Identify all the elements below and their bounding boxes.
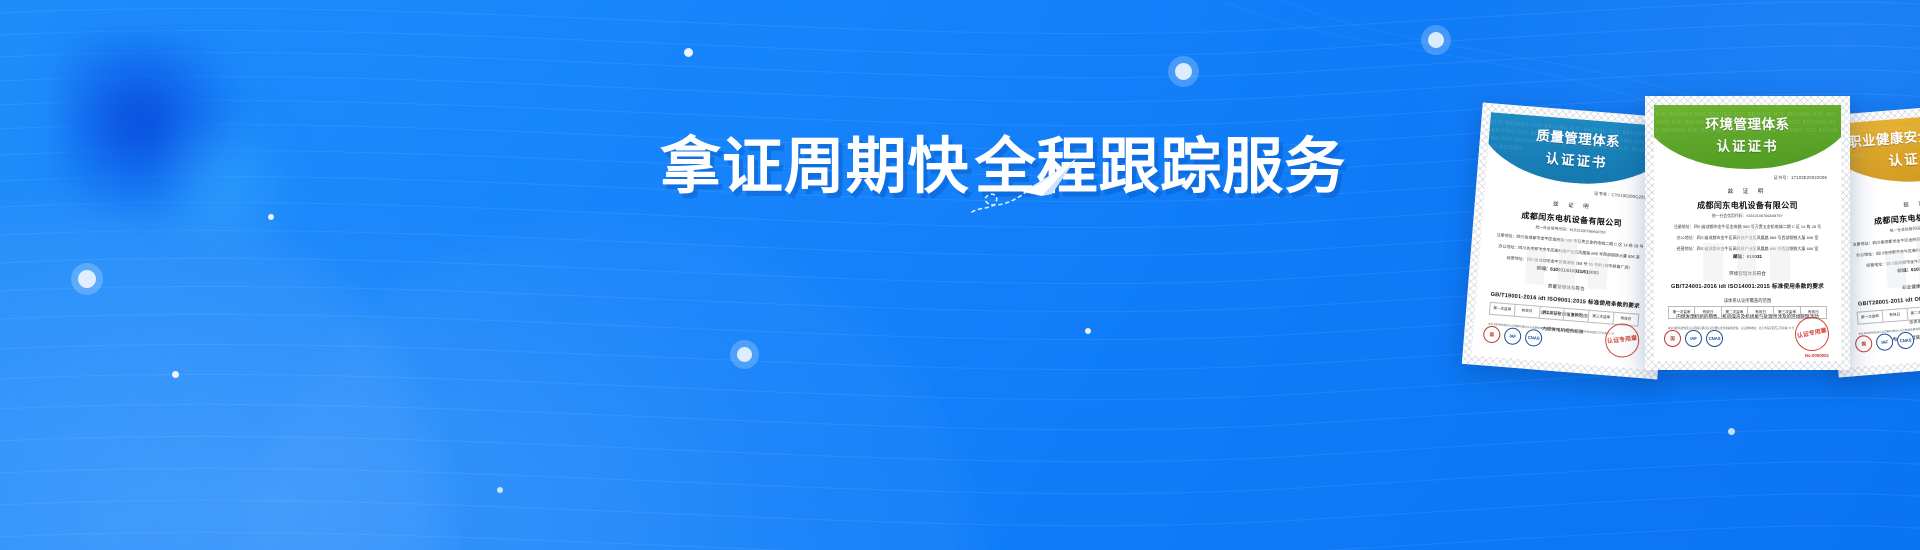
- decor-arc-left-2: [230, 210, 990, 550]
- decor-dot: [1085, 328, 1091, 334]
- certificate-audit-boxes: 第一次监审 有效日 第二次监审 有效日 第三次监审 有效日: [1668, 306, 1827, 319]
- certificate-standard: GB/T24001-2016 idt ISO14001:2015 标准使用条款的…: [1668, 282, 1827, 290]
- certificate-title: 环境管理体系 认证证书: [1654, 113, 1841, 155]
- certificate-system-name: 环境管理体系符合: [1668, 271, 1827, 277]
- certificate-attest-label: 兹 证 明: [1668, 187, 1827, 195]
- certificate-scope-label: 该体系认证所覆盖的范围: [1668, 298, 1827, 304]
- audit-box: 有效日: [1748, 307, 1774, 318]
- certificate-company-name: 成都闰东电机设备有限公司: [1668, 200, 1827, 211]
- audit-box: 第三次监审: [1589, 311, 1615, 324]
- certificate-inner: HJC BEIJING HJC BEIJING HJC BEIJING HJC …: [1472, 112, 1669, 369]
- decor-arc-left: [0, 180, 460, 550]
- certificate-address-3: 经营地址：四川省成都市金牛区高科技产业区凤凰路 666 号西部钢铁大厦 606 …: [1668, 245, 1827, 252]
- certificate-inner: HJC BEIJING HJC BEIJING HJC BEIJING HJC …: [1654, 105, 1841, 361]
- certificate-address-2: 办公地址：四川省成都市金牛区高科技产业区凤凰路 666 号西部钢铁大厦 606 …: [1668, 234, 1827, 241]
- decor-dot: [268, 214, 274, 220]
- audit-box: 有效日: [1515, 305, 1541, 318]
- certificate-zip: 邮编：610031: [1668, 254, 1827, 260]
- iaf-seal-icon: IAF: [1875, 333, 1893, 351]
- audit-box: 有效日: [1564, 309, 1590, 322]
- cnas-seal-icon: CNAS: [1524, 329, 1542, 347]
- certificate-number: 证书号：17103E20022006: [1668, 175, 1827, 181]
- certificate-accreditation-seals: 国 IAF CNAS: [1855, 331, 1915, 353]
- decor-dot: [1175, 63, 1192, 80]
- certificate-stack: HJC BEIJING HJC BEIJING HJC BEIJING HJC …: [1220, 0, 1920, 550]
- decor-dot: [497, 487, 503, 493]
- iaf-seal-icon: IAF: [1504, 327, 1522, 345]
- cnas-seal-icon: CNAS: [1706, 330, 1723, 347]
- cnca-seal-icon: 国: [1855, 335, 1873, 353]
- audit-box: 第一次监审: [1490, 303, 1516, 316]
- decor-dot: [172, 371, 179, 378]
- cnca-seal-icon: 国: [1664, 330, 1681, 347]
- decor-glow-blob-secondary: [150, 120, 300, 250]
- certificate-title-line-2: 认证证书: [1654, 135, 1841, 155]
- certificate-doc-no: No.0000001: [1805, 353, 1829, 358]
- paper-plane-icon: [968, 150, 1088, 230]
- audit-box: 有效日: [1695, 307, 1721, 318]
- certificate-card-environment[interactable]: HJC BEIJING HJC BEIJING HJC BEIJING HJC …: [1645, 96, 1850, 370]
- certificate-unified-code: 统一社会信用代码：91510106766A0875Y: [1668, 214, 1827, 219]
- decor-dot: [78, 270, 96, 288]
- audit-box: 第二次监审: [1722, 307, 1748, 318]
- audit-box: 第二次监审: [1539, 307, 1565, 320]
- audit-box: 第三次监审: [1774, 307, 1800, 318]
- decor-glow-blob: [60, 35, 250, 225]
- iaf-seal-icon: IAF: [1685, 330, 1702, 347]
- decor-dot: [737, 347, 752, 362]
- certificate-accreditation-seals: 国 IAF CNAS: [1483, 325, 1543, 347]
- cnas-seal-icon: CNAS: [1896, 331, 1914, 349]
- certificate-address-1: 注册地址：四川省成都市金牛区金府路 555 号万贯五金机电城二期 C 区 14 …: [1668, 223, 1827, 230]
- certificate-header-band: HJC BEIJING HJC BEIJING HJC BEIJING HJC …: [1654, 105, 1841, 169]
- audit-box: 有效日: [1882, 309, 1908, 322]
- audit-box: 第二次监审: [1907, 307, 1920, 320]
- promo-banner: 拿证周期快 全程跟踪服务 HJC BEIJING HJC BEIJING HJC…: [0, 0, 1920, 550]
- audit-box: 第一次监审: [1858, 311, 1884, 324]
- certificate-body: 证书号：17103E20022006 兹 证 明 成都闰东电机设备有限公司 统一…: [1668, 175, 1827, 335]
- headline-line-1: 拿证周期快: [660, 132, 969, 200]
- certificate-body: 证书号：17103S20024006 兹 证 明 成都闰东电机设备有限公司 统一…: [1847, 181, 1920, 341]
- cnca-seal-icon: 国: [1483, 325, 1501, 343]
- certificate-header-band: HJC BEIJING HJC BEIJING HJC BEIJING HJC …: [1486, 112, 1669, 190]
- audit-box: 第一次监审: [1669, 307, 1695, 318]
- certificate-body: 证书号：CT0190200G2006 兹 证 明 成都闰东电机设备有限公司 统一…: [1488, 183, 1649, 343]
- decor-dot: [684, 48, 693, 57]
- certificate-title-line-1: 环境管理体系: [1654, 113, 1841, 133]
- certificate-accreditation-seals: 国 IAF CNAS: [1664, 330, 1723, 347]
- certificate-system-name: 职业健康安全管理体系符合: [1855, 277, 1920, 295]
